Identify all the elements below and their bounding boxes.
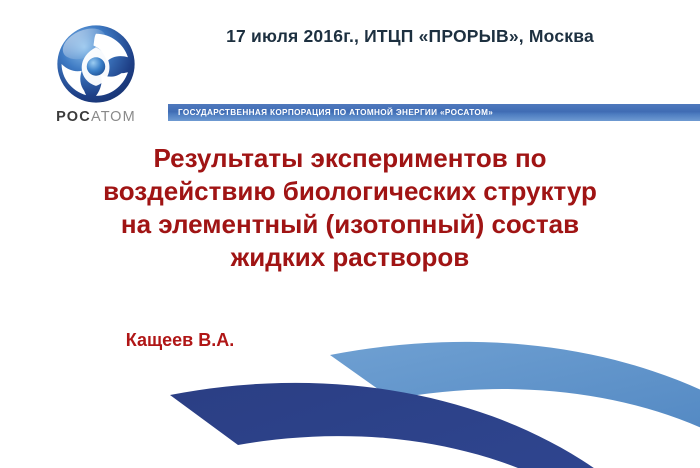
title-line-1: Результаты экспериментов по [30,142,670,175]
wordmark-ros: РОС [56,109,91,125]
wordmark-atom: АТОМ [91,109,136,125]
corporation-banner-text: ГОСУДАРСТВЕННАЯ КОРПОРАЦИЯ ПО АТОМНОЙ ЭН… [178,104,493,121]
title-slide: РОСАТОМ 17 июля 2016г., ИТЦП «ПРОРЫВ», М… [0,0,700,468]
author-name: Кащеев В.А. [30,330,330,351]
rosatom-logo: РОСАТОМ [38,22,154,125]
title-line-4: жидких растворов [30,241,670,274]
corporation-banner: ГОСУДАРСТВЕННАЯ КОРПОРАЦИЯ ПО АТОМНОЙ ЭН… [168,104,700,121]
arc-light [330,342,700,468]
arc-dark [170,383,700,468]
title-line-3: на элементный (изотопный) состав [30,208,670,241]
rosatom-wordmark: РОСАТОМ [38,110,154,125]
title-line-2: воздействию биологических структур [30,175,670,208]
page-title: Результаты экспериментов по воздействию … [30,142,670,274]
rosatom-logo-icon [54,22,138,106]
event-date-venue: 17 июля 2016г., ИТЦП «ПРОРЫВ», Москва [200,26,620,47]
